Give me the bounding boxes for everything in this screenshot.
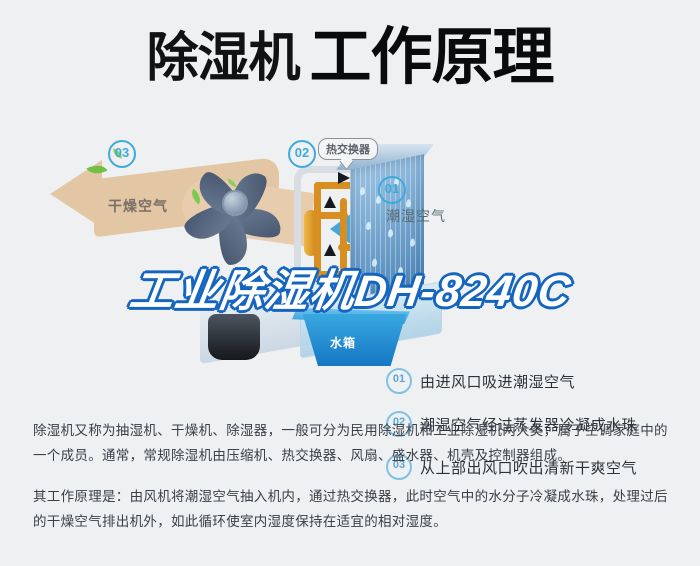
page-title-part1: 除湿机 (146, 31, 299, 84)
diagram-badge-01: 01 (378, 176, 406, 204)
list-item: 01 由进风口吸进潮湿空气 (386, 368, 686, 394)
coil-segment (314, 182, 321, 278)
page-title: 除湿机 工作原理 (0, 18, 700, 98)
page-root: 除湿机 工作原理 干燥空气 03 (0, 0, 700, 566)
flow-arrow-right (338, 172, 350, 184)
dry-air-label: 干燥空气 (108, 196, 168, 216)
step-number: 01 (386, 368, 412, 394)
coil-segment (340, 198, 347, 278)
description-block: 除湿机又称为抽湿机、干燥机、除湿器，一般可分为民用除湿机和工业除湿机两大类，属于… (33, 418, 673, 534)
page-title-part2: 工作原理 (310, 27, 554, 89)
flow-arrow-up (324, 196, 336, 208)
principle-diagram: 干燥空气 03 (0, 118, 700, 393)
fan-icon (178, 146, 288, 256)
flow-arrow-up (324, 244, 336, 256)
paragraph-2: 其工作原理是：由风机将潮湿空气抽入机内，通过热交换器，此时空气中的水分子冷凝成水… (33, 484, 673, 534)
diagram-badge-02: 02 (288, 140, 316, 168)
paragraph-1: 除湿机又称为抽湿机、干燥机、除湿器，一般可分为民用除湿机和工业除湿机两大类，属于… (33, 418, 673, 468)
water-tank-label: 水箱 (330, 334, 356, 351)
compressor (208, 314, 260, 360)
fan-hub (222, 190, 248, 216)
moist-air-label: 潮湿空气 (386, 206, 446, 226)
step-text: 由进风口吸进潮湿空气 (420, 371, 575, 392)
coil-segment (314, 212, 348, 219)
heat-exchanger-callout: 热交换器 (318, 138, 378, 160)
diagram-badge-03: 03 (108, 140, 136, 168)
